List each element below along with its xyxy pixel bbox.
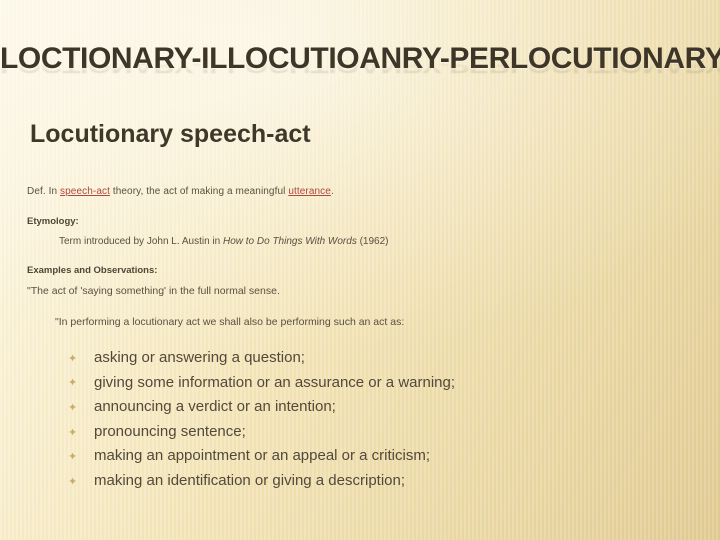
definition-middle: theory, the act of making a meaningful xyxy=(110,186,288,197)
etymology-heading: Etymology: xyxy=(27,216,79,227)
definition-line: Def. In speech-act theory, the act of ma… xyxy=(27,186,334,197)
list-item-label: announcing a verdict or an intention; xyxy=(94,398,336,415)
definition-suffix: . xyxy=(331,186,334,197)
etymology-text-after: (1962) xyxy=(357,236,389,247)
list-item-label: pronouncing sentence; xyxy=(94,423,246,440)
slide-subtitle: Locutionary speech-act xyxy=(30,120,311,149)
star-bullet-icon: ✦ xyxy=(68,428,77,437)
list-item: ✦ asking or answering a question; xyxy=(66,346,666,371)
etymology-text: Term introduced by John L. Austin in How… xyxy=(59,236,389,247)
star-bullet-icon: ✦ xyxy=(68,354,77,363)
star-bullet-icon: ✦ xyxy=(68,477,77,486)
list-item-label: asking or answering a question; xyxy=(94,349,305,366)
definition-prefix: Def. In xyxy=(27,186,60,197)
list-item-label: making an identification or giving a des… xyxy=(94,472,405,489)
slide-title-block: LOCTIONARY-ILLOCUTIOANRY-PERLOCUTIONARY … xyxy=(0,44,720,105)
slide-title: LOCTIONARY-ILLOCUTIOANRY-PERLOCUTIONARY xyxy=(0,44,720,74)
star-bullet-icon: ✦ xyxy=(68,378,77,387)
etymology-book-title: How to Do Things With Words xyxy=(223,236,357,247)
star-bullet-icon: ✦ xyxy=(68,403,77,412)
list-item: ✦ making an identification or giving a d… xyxy=(66,469,666,494)
etymology-text-before: Term introduced by John L. Austin in xyxy=(59,236,223,247)
star-bullet-icon: ✦ xyxy=(68,452,77,461)
act-types-list: ✦ asking or answering a question; ✦ givi… xyxy=(66,346,666,494)
list-item-label: giving some information or an assurance … xyxy=(94,374,455,391)
utterance-link[interactable]: utterance xyxy=(288,186,331,197)
slide-content: LOCTIONARY-ILLOCUTIOANRY-PERLOCUTIONARY … xyxy=(0,0,720,540)
list-item: ✦ pronouncing sentence; xyxy=(66,420,666,445)
examples-heading: Examples and Observations: xyxy=(27,265,157,276)
examples-quote: "The act of 'saying something' in the fu… xyxy=(27,285,280,297)
list-item: ✦ announcing a verdict or an intention; xyxy=(66,395,666,420)
list-item: ✦ giving some information or an assuranc… xyxy=(66,371,666,396)
presentation-slide: LOCTIONARY-ILLOCUTIOANRY-PERLOCUTIONARY … xyxy=(0,0,720,540)
list-item: ✦ making an appointment or an appeal or … xyxy=(66,444,666,469)
list-item-label: making an appointment or an appeal or a … xyxy=(94,447,430,464)
performing-act-line: "In performing a locutionary act we shal… xyxy=(55,316,404,328)
speech-act-link[interactable]: speech-act xyxy=(60,186,110,197)
